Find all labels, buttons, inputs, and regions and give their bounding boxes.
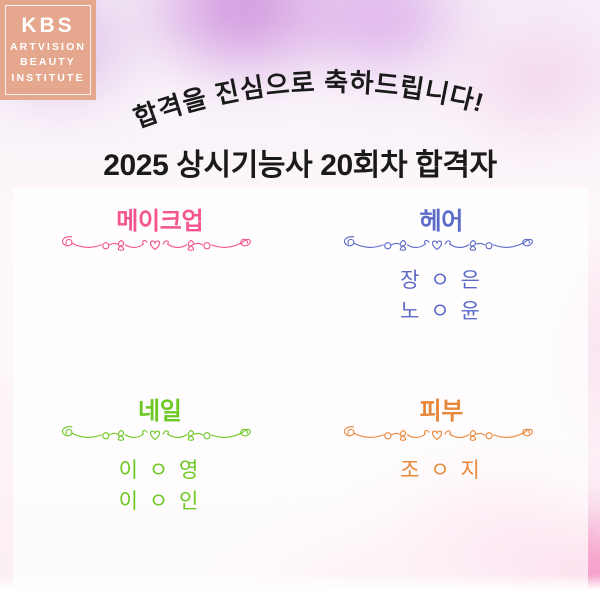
passer-name: 이 ㅇ 영	[119, 458, 201, 484]
passer-name: 장 ㅇ 은	[400, 268, 482, 294]
category-hair: 헤어	[301, 202, 583, 392]
name-list-hair: 장 ㅇ 은노 ㅇ 윤	[400, 268, 482, 326]
category-grid: 메이크업	[13, 188, 588, 588]
name-list-nail: 이 ㅇ 영이 ㅇ 인	[119, 458, 201, 516]
passer-name: 이 ㅇ 인	[119, 489, 201, 515]
logo-brand-text: KBS	[21, 14, 74, 37]
bottom-fade	[0, 574, 600, 600]
ornate-heart-flourish-divider	[334, 232, 549, 256]
ornate-heart-flourish-divider	[52, 232, 267, 256]
poster-canvas: KBS ARTVISION BEAUTY INSTITUTE 합격을 진심으로 …	[0, 0, 600, 600]
name-list-skin: 조 ㅇ 지	[400, 458, 482, 484]
passer-name: 노 ㅇ 윤	[400, 299, 482, 325]
category-skin: 피부	[301, 392, 583, 582]
ornate-heart-flourish-divider	[334, 422, 549, 446]
arched-headline-text: 합격을 진심으로 축하드립니다!	[130, 67, 488, 133]
category-nail: 네일	[19, 392, 301, 582]
category-makeup: 메이크업	[19, 202, 301, 392]
arched-headline: 합격을 진심으로 축하드립니다!	[0, 48, 600, 148]
ornate-heart-flourish-divider	[52, 422, 267, 446]
passer-name: 조 ㅇ 지	[400, 458, 482, 484]
page-title: 2025 상시기능사 20회차 합격자	[0, 140, 600, 184]
